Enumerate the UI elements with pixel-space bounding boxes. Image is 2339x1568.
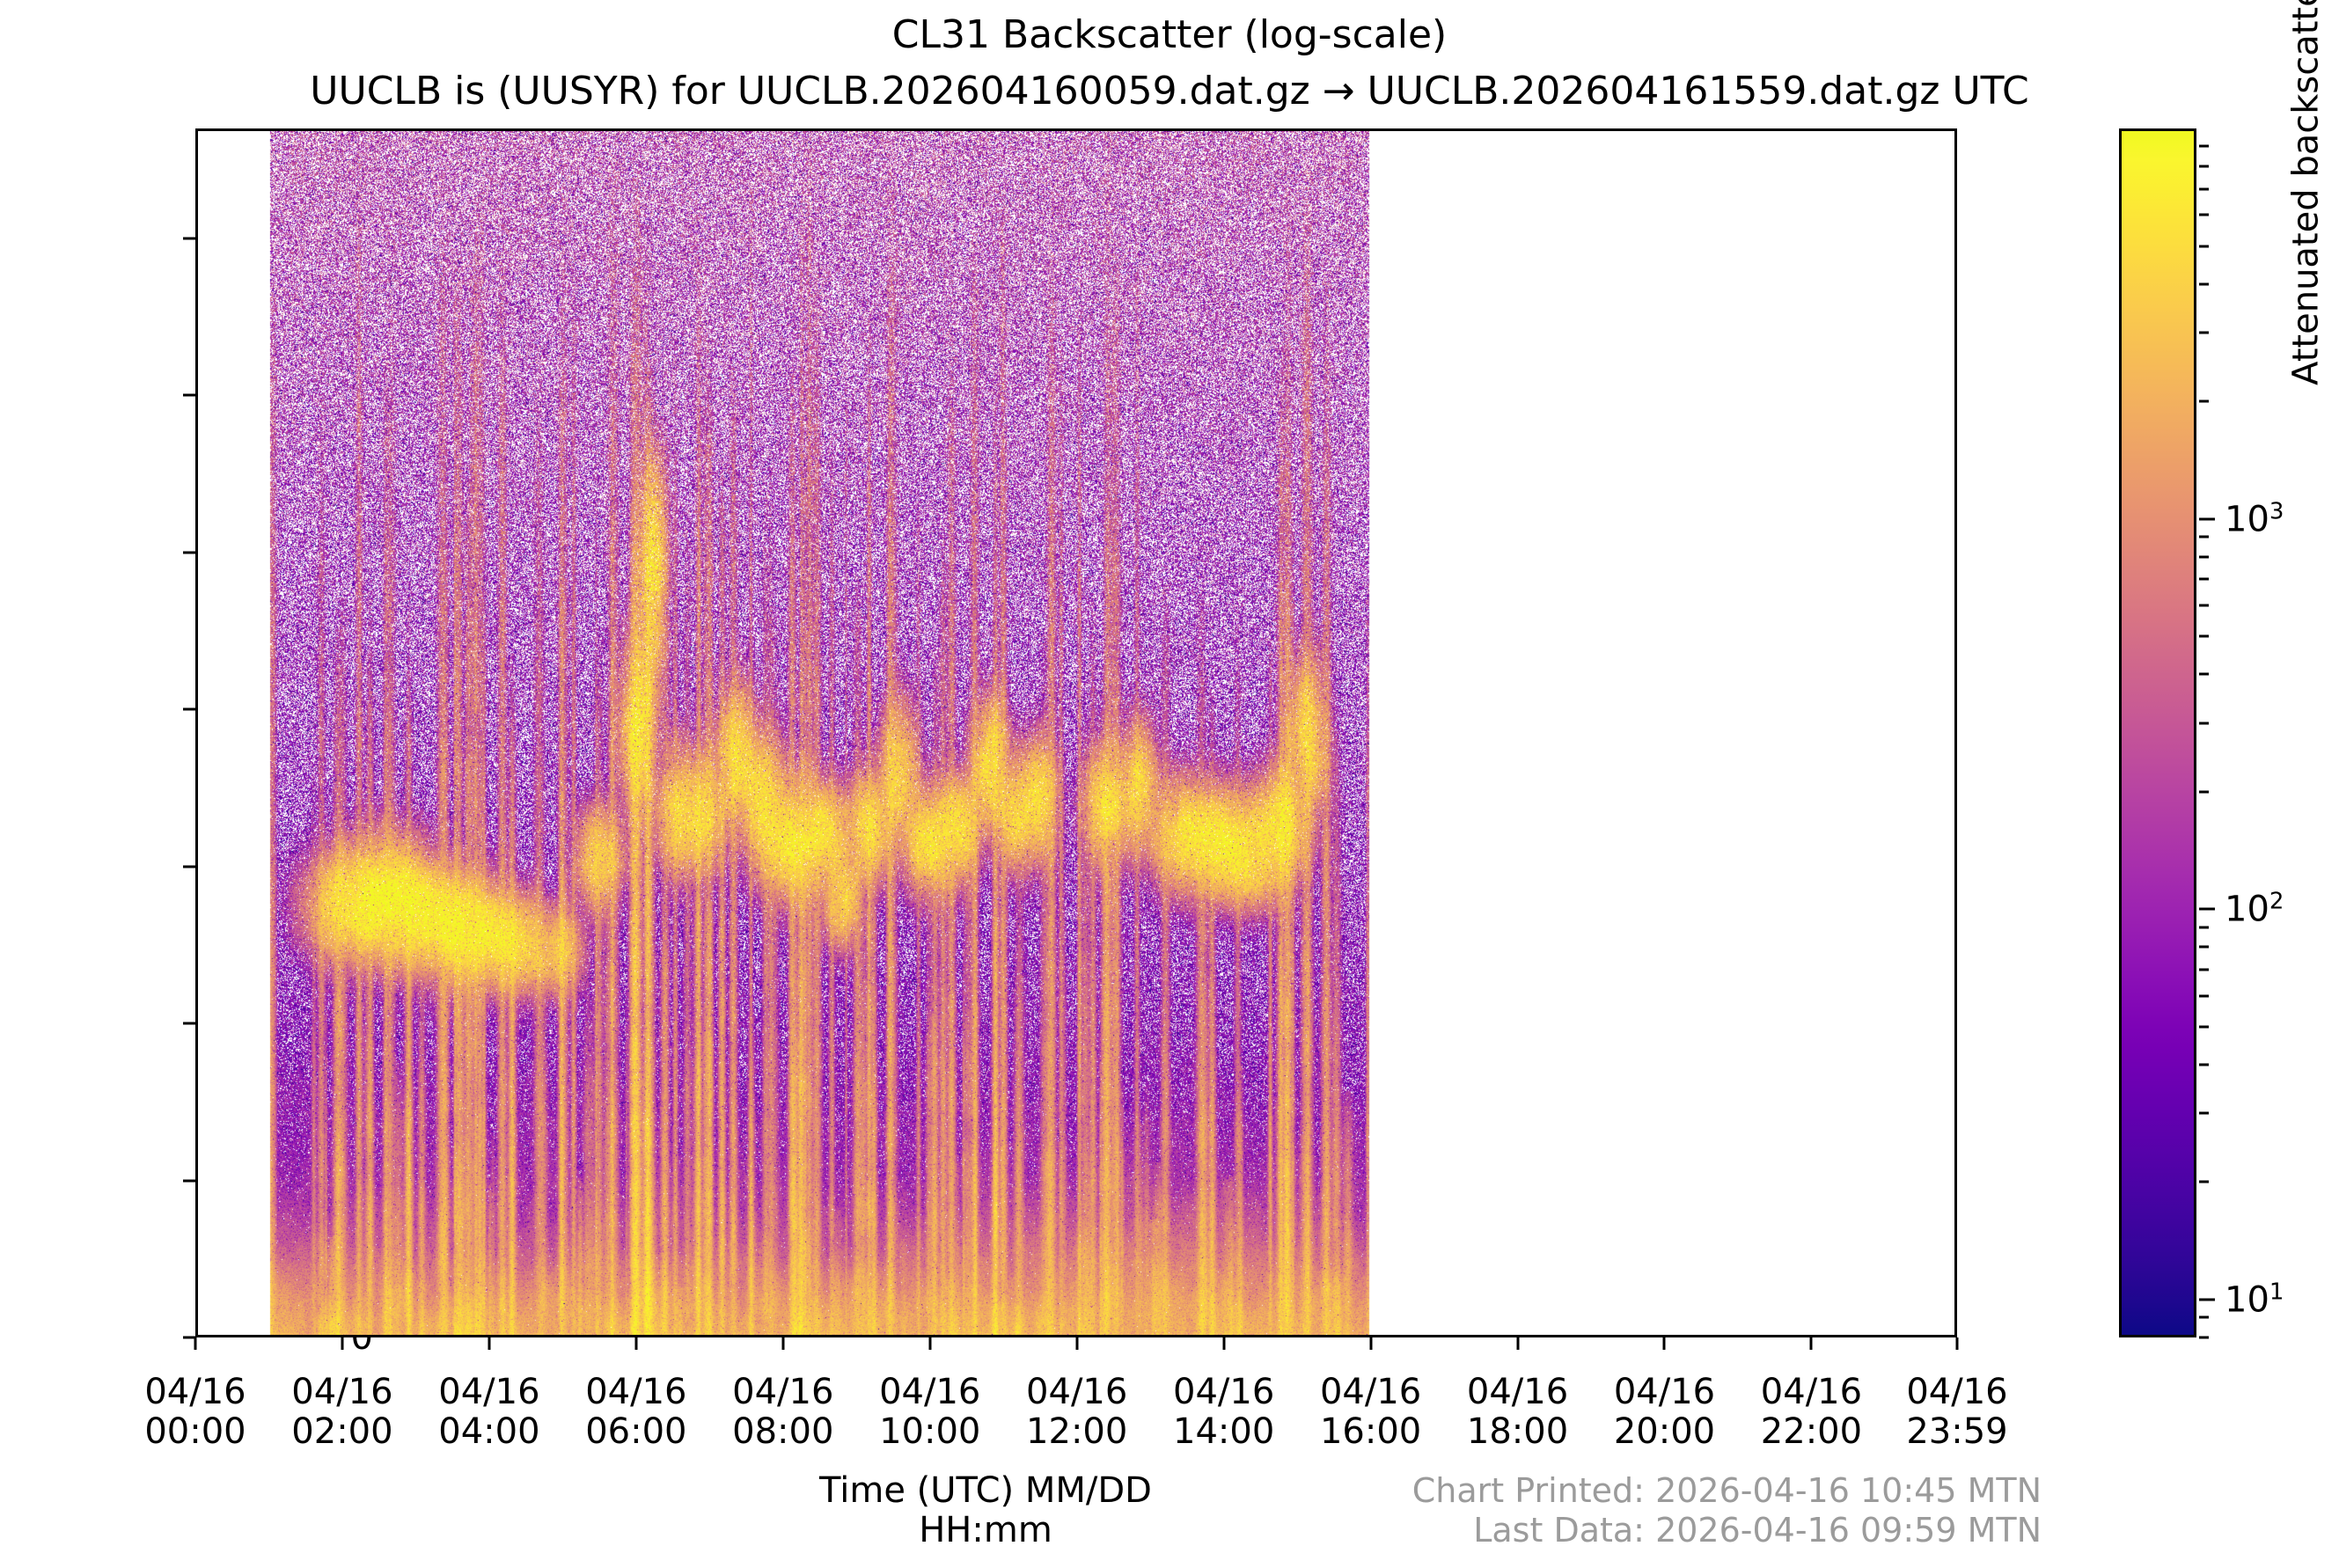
x-tick-date: 04/16 [879, 1373, 980, 1412]
y-tick-mark [183, 237, 195, 239]
colorbar-minor-tick [2199, 946, 2209, 949]
footer-timestamps: Chart Printed: 2026-04-16 10:45 MTN Last… [1346, 1471, 2042, 1550]
x-tick-label: 04/1623:59 [1906, 1373, 2007, 1452]
x-tick-mark [634, 1337, 637, 1350]
colorbar-minor-tick [2199, 673, 2209, 676]
x-axis-label-line2: HH:mm [651, 1511, 1320, 1550]
x-tick-label: 04/1618:00 [1467, 1373, 1568, 1452]
x-tick-label: 04/1614:00 [1173, 1373, 1274, 1452]
x-tick-mark [1075, 1337, 1078, 1350]
x-tick-time: 02:00 [291, 1412, 392, 1452]
x-tick-time: 00:00 [144, 1412, 246, 1452]
colorbar-minor-tick [2199, 969, 2209, 971]
colorbar-minor-tick [2199, 535, 2209, 538]
x-tick-time: 12:00 [1026, 1412, 1127, 1452]
y-tick-mark [183, 551, 195, 553]
x-tick-mark [1663, 1337, 1666, 1350]
y-tick-mark [183, 1179, 195, 1182]
x-tick-time: 22:00 [1761, 1412, 1862, 1452]
x-tick-mark [488, 1337, 490, 1350]
colorbar-minor-tick [2199, 790, 2209, 793]
colorbar-minor-tick [2199, 555, 2209, 558]
x-tick-date: 04/16 [1320, 1373, 1421, 1412]
y-tick-mark [183, 865, 195, 868]
colorbar-tick-mark [2199, 908, 2215, 911]
x-tick-date: 04/16 [1173, 1373, 1274, 1412]
colorbar-gradient [2122, 131, 2194, 1335]
colorbar-minor-tick [2199, 1337, 2209, 1339]
x-tick-date: 04/16 [1761, 1373, 1862, 1412]
colorbar-tick-label: 102 [2225, 889, 2284, 930]
colorbar-tick-mark [2199, 1299, 2215, 1301]
y-tick-mark [183, 394, 195, 397]
figure-subtitle: UUCLB is (UUSYR) for UUCLB.202604160059.… [0, 69, 2339, 114]
x-tick-mark [1810, 1337, 1813, 1350]
colorbar-minor-tick [2199, 1181, 2209, 1183]
colorbar-minor-tick [2199, 214, 2209, 216]
x-tick-time: 23:59 [1906, 1412, 2007, 1452]
x-tick-label: 04/1616:00 [1320, 1373, 1421, 1452]
colorbar-minor-tick [2199, 187, 2209, 190]
x-tick-date: 04/16 [291, 1373, 392, 1412]
x-tick-time: 08:00 [732, 1412, 833, 1452]
x-tick-label: 04/1602:00 [291, 1373, 392, 1452]
colorbar-minor-tick [2199, 282, 2209, 285]
x-tick-mark [1369, 1337, 1372, 1350]
x-tick-time: 18:00 [1467, 1412, 1568, 1452]
x-tick-time: 20:00 [1614, 1412, 1715, 1452]
page-title: CL31 Backscatter (log-scale) [0, 12, 2339, 57]
chart-printed-text: Chart Printed: 2026-04-16 10:45 MTN [1346, 1471, 2042, 1511]
colorbar-minor-tick [2199, 1063, 2209, 1066]
colorbar-minor-tick [2199, 578, 2209, 581]
x-tick-label: 04/1610:00 [879, 1373, 980, 1452]
colorbar-label: Attenuated backscatter [m-1 sr-1] [2284, 0, 2326, 493]
x-tick-date: 04/16 [1614, 1373, 1715, 1412]
x-axis-label: Time (UTC) MM/DD HH:mm [651, 1471, 1320, 1550]
x-tick-date: 04/16 [585, 1373, 686, 1412]
x-tick-mark [194, 1337, 197, 1350]
colorbar-minor-tick [2199, 145, 2209, 148]
colorbar-minor-tick [2199, 994, 2209, 997]
x-tick-date: 04/16 [732, 1373, 833, 1412]
x-tick-mark [1222, 1337, 1225, 1350]
x-tick-label: 04/1612:00 [1026, 1373, 1127, 1452]
colorbar-minor-tick [2199, 926, 2209, 928]
x-tick-time: 10:00 [879, 1412, 980, 1452]
x-tick-date: 04/16 [438, 1373, 539, 1412]
colorbar-minor-tick [2199, 604, 2209, 607]
backscatter-heatmap[interactable] [198, 131, 1954, 1335]
colorbar-minor-tick [2199, 400, 2209, 403]
y-tick-mark [183, 708, 195, 711]
x-tick-label: 04/1600:00 [144, 1373, 246, 1452]
colorbar-minor-tick [2199, 1025, 2209, 1028]
colorbar-minor-tick [2199, 245, 2209, 247]
x-tick-mark [1516, 1337, 1519, 1350]
x-tick-label: 04/1608:00 [732, 1373, 833, 1452]
x-tick-label: 04/1606:00 [585, 1373, 686, 1452]
heatmap-plot-area[interactable] [195, 128, 1957, 1337]
colorbar-minor-tick [2199, 331, 2209, 333]
x-tick-time: 16:00 [1320, 1412, 1421, 1452]
colorbar-tick-mark [2199, 517, 2215, 520]
colorbar[interactable] [2119, 128, 2196, 1337]
x-tick-time: 06:00 [585, 1412, 686, 1452]
x-tick-mark [928, 1337, 931, 1350]
x-tick-label: 04/1620:00 [1614, 1373, 1715, 1452]
x-tick-label: 04/1622:00 [1761, 1373, 1862, 1452]
x-axis-label-line1: Time (UTC) MM/DD [651, 1471, 1320, 1511]
colorbar-tick-label: 103 [2225, 498, 2284, 539]
x-tick-mark [781, 1337, 784, 1350]
last-data-text: Last Data: 2026-04-16 09:59 MTN [1346, 1511, 2042, 1550]
x-tick-date: 04/16 [1026, 1373, 1127, 1412]
colorbar-minor-tick [2199, 635, 2209, 638]
x-tick-mark [341, 1337, 343, 1350]
colorbar-minor-tick [2199, 722, 2209, 724]
y-tick-mark [183, 1022, 195, 1025]
colorbar-minor-tick [2199, 1112, 2209, 1115]
colorbar-tick-label: 101 [2225, 1279, 2284, 1320]
x-tick-date: 04/16 [1906, 1373, 2007, 1412]
colorbar-minor-tick [2199, 165, 2209, 167]
x-tick-time: 04:00 [438, 1412, 539, 1452]
x-tick-mark [1956, 1337, 1959, 1350]
x-tick-date: 04/16 [144, 1373, 246, 1412]
x-tick-date: 04/16 [1467, 1373, 1568, 1412]
x-tick-label: 04/1604:00 [438, 1373, 539, 1452]
figure-canvas: CL31 Backscatter (log-scale) UUCLB is (U… [0, 0, 2339, 1568]
colorbar-minor-tick [2199, 1316, 2209, 1319]
x-tick-time: 14:00 [1173, 1412, 1274, 1452]
